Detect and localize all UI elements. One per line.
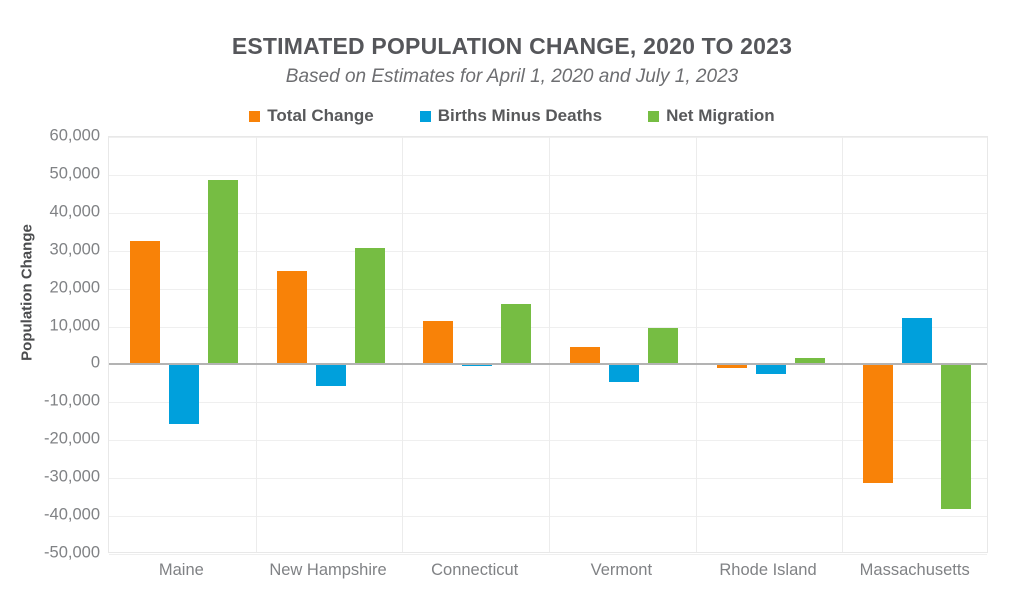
gridline (109, 289, 987, 290)
x-axis-tick: Connecticut (401, 561, 548, 580)
y-axis-tick: -10,000 (4, 392, 100, 411)
bar[interactable] (501, 304, 531, 364)
bar[interactable] (863, 363, 893, 482)
y-axis-tick: -50,000 (4, 544, 100, 563)
x-axis-tick: Rhode Island (695, 561, 842, 580)
gridline (109, 478, 987, 479)
legend-swatch-total-change (249, 111, 260, 122)
bar[interactable] (941, 363, 971, 509)
bar[interactable] (130, 241, 160, 364)
bar[interactable] (277, 271, 307, 364)
y-axis-tick: 20,000 (4, 278, 100, 297)
y-axis-tick: 60,000 (4, 127, 100, 146)
bar[interactable] (609, 363, 639, 381)
gridline (109, 402, 987, 403)
gridline (109, 327, 987, 328)
category-separator (549, 137, 550, 552)
legend-item-births-minus-deaths[interactable]: Births Minus Deaths (420, 106, 602, 126)
gridline (109, 516, 987, 517)
gridline (109, 440, 987, 441)
legend-label-total-change: Total Change (267, 106, 373, 126)
bar[interactable] (570, 347, 600, 363)
legend-swatch-births-minus-deaths (420, 111, 431, 122)
gridline (109, 137, 987, 138)
bar[interactable] (208, 180, 238, 364)
plot-area (108, 136, 988, 553)
gridline (109, 175, 987, 176)
zero-axis-line (109, 363, 987, 365)
category-separator (842, 137, 843, 552)
chart-legend: Total Change Births Minus Deaths Net Mig… (0, 106, 1024, 126)
category-separator (696, 137, 697, 552)
legend-label-net-migration: Net Migration (666, 106, 775, 126)
x-axis-tick: Vermont (548, 561, 695, 580)
bar[interactable] (423, 321, 453, 363)
y-axis-tick: -40,000 (4, 506, 100, 525)
y-axis-tick: 50,000 (4, 164, 100, 183)
y-axis-tick: -30,000 (4, 468, 100, 487)
category-separator (256, 137, 257, 552)
x-axis-tick: Maine (108, 561, 255, 580)
legend-item-total-change[interactable]: Total Change (249, 106, 373, 126)
y-axis-tick: 0 (4, 354, 100, 373)
legend-swatch-net-migration (648, 111, 659, 122)
x-axis-tick-labels: MaineNew HampshireConnecticutVermontRhod… (108, 561, 988, 580)
y-axis-tick: 40,000 (4, 202, 100, 221)
bar[interactable] (355, 248, 385, 363)
gridline (109, 554, 987, 555)
y-axis-tick: 30,000 (4, 240, 100, 259)
legend-item-net-migration[interactable]: Net Migration (648, 106, 775, 126)
legend-label-births-minus-deaths: Births Minus Deaths (438, 106, 602, 126)
x-axis-tick: Massachusetts (841, 561, 988, 580)
chart-subtitle: Based on Estimates for April 1, 2020 and… (0, 66, 1024, 88)
x-axis-tick: New Hampshire (255, 561, 402, 580)
y-axis-tick-labels: 60,00050,00040,00030,00020,00010,0000-10… (0, 136, 100, 553)
category-separator (402, 137, 403, 552)
population-change-chart: ESTIMATED POPULATION CHANGE, 2020 TO 202… (0, 0, 1024, 596)
y-axis-tick: 10,000 (4, 316, 100, 335)
y-axis-tick: -20,000 (4, 430, 100, 449)
chart-title: ESTIMATED POPULATION CHANGE, 2020 TO 202… (0, 33, 1024, 60)
bar[interactable] (648, 328, 678, 363)
bar[interactable] (169, 363, 199, 424)
bar[interactable] (902, 318, 932, 364)
gridline (109, 213, 987, 214)
bar[interactable] (316, 363, 346, 386)
gridline (109, 251, 987, 252)
